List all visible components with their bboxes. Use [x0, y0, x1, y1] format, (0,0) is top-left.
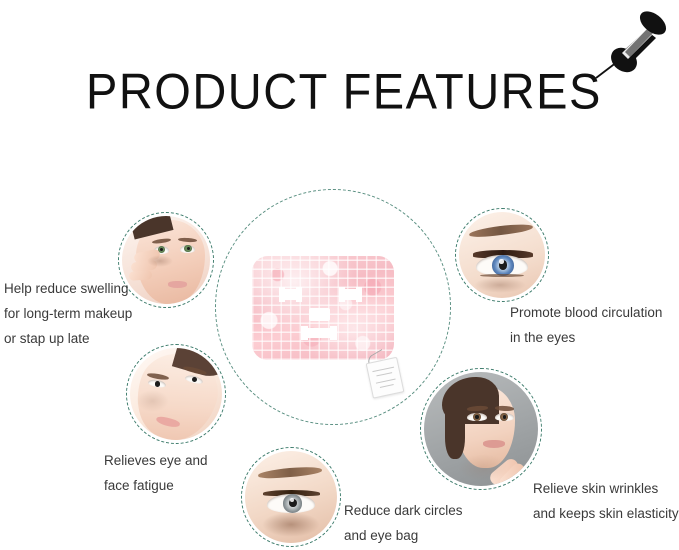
mask-nose-cutout [309, 308, 330, 321]
product-features-infographic: PRODUCT FEATURES [0, 0, 679, 550]
feature-photo-skin-wrinkles [420, 368, 542, 490]
product-image-rose-quartz-mask [252, 256, 394, 360]
caption-skin-wrinkles: Relieve skin wrinkles and keeps skin ela… [533, 476, 679, 526]
mask-eye-cutout-right [340, 289, 361, 300]
photo-woman-grey-background [424, 372, 538, 486]
photo-woman-tilted-face [130, 348, 222, 440]
mask-mouth-cutout [302, 328, 336, 338]
caption-eye-face-fatigue: Relieves eye and face fatigue [104, 448, 208, 498]
mask-eye-cutout-left [280, 289, 301, 300]
photo-woman-touching-under-eye [122, 216, 210, 304]
caption-blood-circulation: Promote blood circulation in the eyes [510, 300, 662, 350]
caption-reduce-swelling: Help reduce swelling for long-term makeu… [4, 276, 132, 351]
feature-photo-reduce-swelling [118, 212, 214, 308]
page-title: PRODUCT FEATURES [86, 66, 602, 116]
feature-photo-blood-circulation [455, 208, 549, 302]
feature-photo-dark-circles [241, 447, 341, 547]
pushpin-icon [586, 4, 678, 82]
caption-dark-circles: Reduce dark circles and eye bag [344, 498, 463, 548]
feature-photo-eye-face-fatigue [126, 344, 226, 444]
photo-closeup-blue-eye [459, 212, 545, 298]
photo-eye-with-eye-bag [245, 451, 337, 543]
